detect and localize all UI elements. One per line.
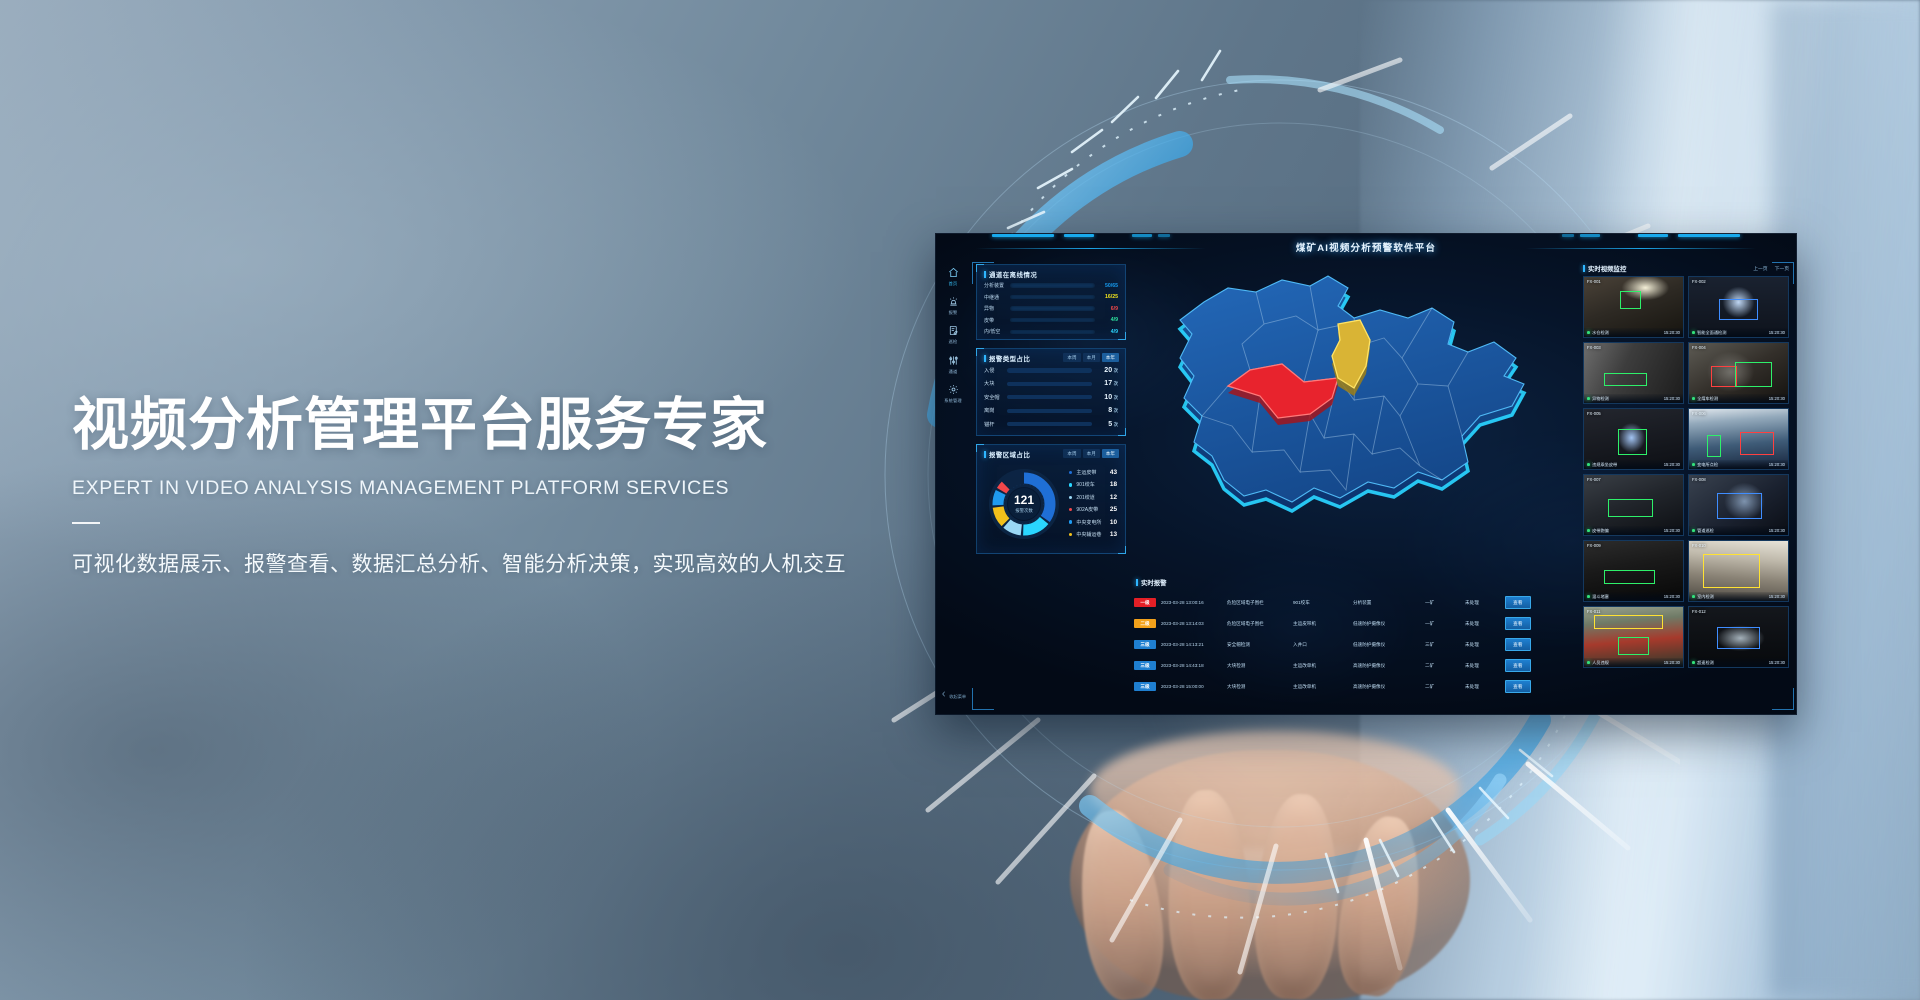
video-camera-id: FX-010: [1692, 543, 1706, 548]
video-footer: 智能全面通检测 15:20:30: [1689, 328, 1788, 337]
table-row[interactable]: 三级 2023-03-28 14:13:21 安全帽检测 入井口 低速防护摄像仪…: [1134, 634, 1536, 655]
video-camera-id: FX-011: [1587, 609, 1600, 614]
sidebar-item-alarm[interactable]: 报警: [936, 289, 970, 318]
legend-value: 43: [1110, 469, 1117, 476]
video-monitor-header: 实时视频监控 上一页 下一页: [1583, 264, 1789, 273]
alarm-type-title: 报警类型占比: [984, 354, 1030, 363]
channel-row-label: 皮带: [984, 317, 1010, 324]
video-time: 15:20:30: [1769, 528, 1785, 533]
alarm-type: 大块检测: [1227, 684, 1293, 690]
donut-total: 121: [1014, 494, 1034, 506]
video-label: 变电所点检: [1697, 462, 1769, 468]
status-dot: [1692, 529, 1695, 532]
channel-row-track: [1010, 306, 1095, 310]
channel-row-track: [1010, 318, 1095, 322]
legend-label: 901绞车: [1076, 481, 1110, 488]
alarm-type-value: 5次: [1092, 421, 1118, 428]
video-time: 15:20:30: [1664, 462, 1680, 467]
alarm-icon: [936, 296, 970, 309]
legend-dot: [1069, 520, 1072, 523]
alarm-level-badge: 三级: [1134, 640, 1156, 649]
alarm-type-panel: 报警类型占比 本周 本月 本年 入侵 20次 大块 17次 安全帽 10次: [976, 348, 1126, 436]
alarm-level-badge: 三级: [1134, 661, 1156, 670]
video-time: 15:20:30: [1769, 396, 1785, 401]
legend-dot: [1069, 496, 1072, 499]
video-card[interactable]: FX-012 超速检测 15:20:30: [1688, 606, 1789, 668]
channel-row: 内/低空 4/9: [984, 328, 1118, 335]
legend-label: 902A皮带: [1076, 506, 1110, 513]
video-card[interactable]: FX-006 变电所点检 15:20:30: [1688, 408, 1789, 470]
alarm-grade: 三矿: [1425, 642, 1465, 648]
dashboard-header: 煤矿AI视频分析预警软件平台: [936, 234, 1796, 264]
channel-row-label: 内/低空: [984, 328, 1010, 335]
alarm-type-track: [1007, 395, 1092, 399]
video-footer: 溜斗堵塞 15:20:30: [1584, 592, 1683, 601]
inspection-icon: [936, 325, 970, 338]
tab-week[interactable]: 本周: [1063, 353, 1080, 362]
video-camera-id: FX-009: [1587, 543, 1601, 548]
video-footer: 管道巡检 15:20:30: [1689, 526, 1788, 535]
channel-row-track: [1010, 330, 1095, 334]
video-label: 室内检测: [1697, 594, 1769, 600]
alarm-view-button[interactable]: 查看: [1505, 638, 1531, 651]
status-dot: [1692, 397, 1695, 400]
dashboard-screen: 煤矿AI视频分析预警软件平台 首页 报警 巡检 通道: [936, 234, 1796, 714]
video-time: 15:20:30: [1664, 528, 1680, 533]
gear-icon: [936, 384, 970, 397]
legend-value: 13: [1110, 531, 1117, 538]
sidebar-item-channel[interactable]: 通道: [936, 348, 970, 377]
frame-corner-tl: [972, 262, 994, 284]
alarm-area-title: 报警区域占比: [984, 450, 1030, 459]
channel-row: 分析装置 50/65: [984, 282, 1118, 289]
alarm-status: 未处理: [1465, 642, 1505, 648]
status-dot: [1587, 595, 1590, 598]
legend-dot: [1069, 483, 1072, 486]
alarm-type-label: 大块: [984, 380, 1007, 387]
divider-rule: [72, 522, 100, 524]
channel-row-value: 16/25: [1095, 294, 1118, 300]
legend-item: 201绞道 12: [1069, 494, 1117, 501]
alarm-type-row: 锚杆 5次: [984, 421, 1118, 428]
alarm-area-legend: 主运皮带 43 901绞车 18 201绞道 12 902A皮带 25 中央变电…: [1069, 469, 1117, 538]
status-dot: [1587, 397, 1590, 400]
alarm-device: 低速防护摄像仪: [1353, 642, 1425, 648]
video-card[interactable]: FX-010 室内检测 15:20:30: [1688, 540, 1789, 602]
alarm-view-button[interactable]: 查看: [1505, 596, 1531, 609]
video-label: 管道巡检: [1697, 528, 1769, 534]
hero-copy: 视频分析管理平台服务专家 EXPERT IN VIDEO ANALYSIS MA…: [72, 392, 952, 578]
video-time: 15:20:30: [1664, 396, 1680, 401]
channel-row: 皮带 4/9: [984, 317, 1118, 324]
detection-box: [1620, 291, 1642, 309]
legend-item: 中央辅运巷 13: [1069, 531, 1117, 538]
tab-month[interactable]: 本月: [1083, 353, 1100, 362]
sidebar-item-alarm-label: 报警: [936, 311, 970, 315]
alarm-view-button[interactable]: 查看: [1505, 617, 1531, 630]
video-grid: FX-001 水仓检测 15:20:30 FX-002 智能全面通检测 15:2…: [1583, 276, 1789, 706]
alarm-device: 高速防护摄像仪: [1353, 663, 1425, 669]
alarm-device: 高速防护摄像仪: [1353, 684, 1425, 690]
status-dot: [1587, 661, 1590, 664]
alarm-device: 低速防护摄像仪: [1353, 621, 1425, 627]
video-footer: 变电所点检 15:20:30: [1689, 460, 1788, 469]
tab-year[interactable]: 本年: [1102, 449, 1119, 458]
detection-box: [1717, 493, 1763, 519]
channel-row-value: 6/9: [1095, 306, 1118, 312]
channel-row-value: 4/9: [1095, 317, 1118, 323]
channel-row: 异物 6/9: [984, 305, 1118, 312]
alarm-area-donut: 121 报警次数: [987, 467, 1061, 541]
alarm-type-track: [1007, 409, 1092, 413]
video-time: 15:20:30: [1664, 594, 1680, 599]
alarm-type-rows: 入侵 20次 大块 17次 安全帽 10次 离岗 8次 锚杆: [984, 367, 1118, 428]
table-row[interactable]: 三级 2023-03-28 14:43:18 大块检测 主运改单机 高速防护摄像…: [1134, 655, 1536, 676]
alarm-time: 2023-03-28 15:00:00: [1161, 684, 1227, 689]
frame-corner-bl: [972, 688, 994, 710]
video-monitor-title: 实时视频监控: [1583, 264, 1626, 273]
alarm-device: 分析装置: [1353, 600, 1425, 606]
alarm-type-track: [1007, 382, 1092, 386]
video-camera-id: FX-002: [1692, 279, 1706, 284]
legend-dot: [1069, 533, 1072, 536]
sidebar-item-system-label: 系统管理: [936, 399, 970, 403]
detection-box: [1707, 435, 1721, 457]
alarm-level-badge: 一级: [1134, 598, 1156, 607]
tab-month[interactable]: 本月: [1083, 449, 1100, 458]
channel-row-label: 异物: [984, 305, 1010, 312]
legend-dot: [1069, 508, 1072, 511]
alarm-area: 主运改单机: [1293, 684, 1353, 690]
frame-corner-tr: [1772, 262, 1794, 284]
detection-box: [1711, 366, 1737, 388]
video-time: 15:20:30: [1769, 330, 1785, 335]
video-footer: 异物检测 15:20:30: [1584, 394, 1683, 403]
alarm-type-row: 大块 17次: [984, 380, 1118, 387]
legend-value: 25: [1110, 506, 1117, 513]
detection-box: [1618, 429, 1648, 454]
map-svg[interactable]: [1132, 266, 1538, 566]
video-footer: 违规乘坐皮带 15:20:30: [1584, 460, 1683, 469]
detection-box: [1740, 432, 1774, 455]
alarm-time: 2023-03-28 13:14:03: [1161, 621, 1227, 626]
video-camera-id: FX-006: [1692, 411, 1706, 416]
collapse-icon: [940, 694, 949, 700]
sidebar: 首页 报警 巡检 通道 系统管理: [936, 260, 970, 714]
alarm-grade: 二矿: [1425, 684, 1465, 690]
alarm-grade: 一矿: [1425, 621, 1465, 627]
realtime-alarm-panel: 实时报警 一级 2023-03-28 13:00:16 危险区域电子围栏 901…: [1132, 576, 1538, 708]
video-label: 人员违规: [1592, 660, 1664, 666]
alarm-status: 未处理: [1465, 600, 1505, 606]
alarm-type-track: [1007, 422, 1092, 426]
video-monitor-panel: 实时视频监控 上一页 下一页 FX-001 水仓检测 15:20:30: [1580, 262, 1792, 708]
sidebar-item-home[interactable]: 首页: [936, 260, 970, 289]
detection-box: [1618, 637, 1650, 655]
alarm-type-value: 10次: [1092, 394, 1118, 401]
video-label: 智能全面通检测: [1697, 330, 1769, 336]
video-label: 水仓检测: [1592, 330, 1664, 336]
status-dot: [1692, 463, 1695, 466]
frame-corner-br: [1772, 688, 1794, 710]
sidebar-item-channel-label: 通道: [936, 370, 970, 374]
realtime-alarm-title: 实时报警: [1136, 578, 1167, 587]
legend-label: 中央变电所: [1076, 519, 1110, 526]
video-label: 超速检测: [1697, 660, 1769, 666]
page-description: 可视化数据展示、报警查看、数据汇总分析、智能分析决策，实现高效的人机交互: [72, 548, 952, 578]
video-card[interactable]: FX-001 水仓检测 15:20:30: [1583, 276, 1684, 338]
video-card[interactable]: FX-005 违规乘坐皮带 15:20:30: [1583, 408, 1684, 470]
page-title: 视频分析管理平台服务专家: [72, 392, 952, 459]
status-dot: [1692, 331, 1695, 334]
video-card[interactable]: FX-003 异物检测 15:20:30: [1583, 342, 1684, 404]
video-card[interactable]: FX-008 管道巡检 15:20:30: [1688, 474, 1789, 536]
realtime-alarm-rows: 一级 2023-03-28 13:00:16 危险区域电子围栏 901绞车 分析…: [1134, 592, 1536, 697]
alarm-area: 主运皮带机: [1293, 621, 1353, 627]
detection-box: [1735, 362, 1773, 387]
status-dot: [1692, 595, 1695, 598]
page-subtitle: EXPERT IN VIDEO ANALYSIS MANAGEMENT PLAT…: [72, 477, 952, 500]
alarm-type-tabs: 本周 本月 本年: [1063, 353, 1119, 362]
channel-status-rows: 分析装置 50/65 中继通 16/25 异物 6/9 皮带 4/9 内/低空: [984, 282, 1118, 335]
video-time: 15:20:30: [1664, 660, 1680, 665]
alarm-status: 未处理: [1465, 684, 1505, 690]
video-label: 异物检测: [1592, 396, 1664, 402]
alarm-type-row: 安全帽 10次: [984, 394, 1118, 401]
video-card[interactable]: FX-002 智能全面通检测 15:20:30: [1688, 276, 1789, 338]
alarm-area: 入井口: [1293, 642, 1353, 648]
video-card[interactable]: FX-011 人员违规 15:20:30: [1583, 606, 1684, 668]
prev-page-button[interactable]: 上一页: [1753, 265, 1767, 272]
video-time: 15:20:30: [1769, 660, 1785, 665]
alarm-type-row: 入侵 20次: [984, 367, 1118, 374]
alarm-type-row: 离岗 8次: [984, 407, 1118, 414]
legend-label: 201绞道: [1076, 494, 1110, 501]
alarm-time: 2023-03-28 14:43:18: [1161, 663, 1227, 668]
province-map[interactable]: [1132, 262, 1538, 574]
channel-row-track: [1010, 283, 1095, 287]
video-camera-id: FX-008: [1692, 477, 1706, 482]
alarm-type-label: 入侵: [984, 367, 1007, 374]
detection-box: [1719, 299, 1759, 321]
video-time: 15:20:30: [1769, 462, 1785, 467]
status-dot: [1692, 661, 1695, 664]
sidebar-item-inspection-label: 巡检: [936, 340, 970, 344]
home-icon: [936, 267, 970, 280]
video-footer: 皮带跑偏 15:20:30: [1584, 526, 1683, 535]
alarm-type-label: 锚杆: [984, 421, 1007, 428]
video-time: 15:20:30: [1664, 330, 1680, 335]
alarm-level-badge: 三级: [1134, 682, 1156, 691]
video-label: 违规乘坐皮带: [1592, 462, 1664, 468]
detection-box: [1604, 373, 1648, 386]
alarm-type-value: 20次: [1092, 367, 1118, 374]
legend-item: 902A皮带 25: [1069, 506, 1117, 513]
video-card[interactable]: FX-004 全煤车检测 15:20:30: [1688, 342, 1789, 404]
video-camera-id: FX-003: [1587, 345, 1601, 350]
video-camera-id: FX-005: [1587, 411, 1601, 416]
sidebar-item-system[interactable]: 系统管理: [936, 377, 970, 406]
legend-item: 中央变电所 10: [1069, 519, 1117, 526]
video-footer: 水仓检测 15:20:30: [1584, 328, 1683, 337]
video-card[interactable]: FX-007 皮带跑偏 15:20:30: [1583, 474, 1684, 536]
alarm-type-label: 离岗: [984, 407, 1007, 414]
sidebar-collapse-label: 收起菜单: [949, 694, 966, 699]
table-row[interactable]: 二级 2023-03-28 13:14:03 危险区域电子围栏 主运皮带机 低速…: [1134, 613, 1536, 634]
tab-year[interactable]: 本年: [1102, 353, 1119, 362]
channel-row-label: 中继通: [984, 294, 1010, 301]
alarm-type-track: [1007, 368, 1092, 372]
video-camera-id: FX-012: [1692, 609, 1706, 614]
legend-value: 10: [1110, 519, 1117, 526]
channel-row: 中继通 16/25: [984, 294, 1118, 301]
video-camera-id: FX-001: [1587, 279, 1601, 284]
sidebar-item-inspection[interactable]: 巡检: [936, 318, 970, 347]
video-camera-id: FX-007: [1587, 477, 1601, 482]
alarm-type: 危险区域电子围栏: [1227, 600, 1293, 606]
channel-row-track: [1010, 295, 1095, 299]
alarm-grade: 一矿: [1425, 600, 1465, 606]
video-label: 溜斗堵塞: [1592, 594, 1664, 600]
video-time: 15:20:30: [1769, 594, 1785, 599]
sidebar-collapse[interactable]: 收起菜单: [936, 690, 970, 700]
video-camera-id: FX-004: [1692, 345, 1706, 350]
status-dot: [1587, 463, 1590, 466]
detection-box: [1594, 615, 1663, 628]
dashboard-monitor: 煤矿AI视频分析预警软件平台 首页 报警 巡检 通道: [936, 234, 1796, 714]
status-dot: [1587, 529, 1590, 532]
table-row[interactable]: 一级 2023-03-28 13:00:16 危险区域电子围栏 901绞车 分析…: [1134, 592, 1536, 613]
legend-item: 901绞车 18: [1069, 481, 1117, 488]
alarm-view-button[interactable]: 查看: [1505, 680, 1531, 693]
legend-label: 主运皮带: [1076, 469, 1110, 476]
alarm-area-panel: 报警区域占比 本周 本月 本年 121 报警次数: [976, 444, 1126, 554]
alarm-type-value: 8次: [1092, 407, 1118, 414]
alarm-view-button[interactable]: 查看: [1505, 659, 1531, 672]
legend-dot: [1069, 471, 1072, 474]
tab-week[interactable]: 本周: [1063, 449, 1080, 458]
alarm-status: 未处理: [1465, 621, 1505, 627]
detection-box: [1608, 499, 1654, 517]
donut-total-label: 报警次数: [1015, 508, 1033, 514]
video-label: 全煤车检测: [1697, 396, 1769, 402]
video-footer: 超速检测 15:20:30: [1689, 658, 1788, 667]
alarm-type: 大块检测: [1227, 663, 1293, 669]
video-footer: 室内检测 15:20:30: [1689, 592, 1788, 601]
donut-center: 121 报警次数: [987, 467, 1061, 541]
detection-box: [1717, 627, 1761, 649]
channel-icon: [936, 355, 970, 368]
alarm-area-tabs: 本周 本月 本年: [1063, 449, 1119, 458]
alarm-type-value: 17次: [1092, 380, 1118, 387]
detection-box: [1604, 570, 1655, 584]
video-card[interactable]: FX-009 溜斗堵塞 15:20:30: [1583, 540, 1684, 602]
channel-row-value: 4/9: [1095, 329, 1118, 335]
alarm-type-label: 安全帽: [984, 394, 1007, 401]
alarm-area: 主运改单机: [1293, 663, 1353, 669]
video-label: 皮带跑偏: [1592, 528, 1664, 534]
detection-box: [1703, 554, 1760, 588]
video-footer: 全煤车检测 15:20:30: [1689, 394, 1788, 403]
video-footer: 人员违规 15:20:30: [1584, 658, 1683, 667]
alarm-status: 未处理: [1465, 663, 1505, 669]
alarm-time: 2023-03-28 13:00:16: [1161, 600, 1227, 605]
channel-row-value: 50/65: [1095, 283, 1118, 289]
channel-status-panel: 通道在离线情况 分析装置 50/65 中继通 16/25 异物 6/9 皮带 4…: [976, 264, 1126, 340]
legend-item: 主运皮带 43: [1069, 469, 1117, 476]
app-title: 煤矿AI视频分析预警软件平台: [936, 240, 1796, 254]
legend-value: 18: [1110, 481, 1117, 488]
legend-value: 12: [1110, 494, 1117, 501]
alarm-type: 安全帽检测: [1227, 642, 1293, 648]
alarm-level-badge: 二级: [1134, 619, 1156, 628]
alarm-grade: 二矿: [1425, 663, 1465, 669]
alarm-type: 危险区域电子围栏: [1227, 621, 1293, 627]
table-row[interactable]: 三级 2023-03-28 15:00:00 大块检测 主运改单机 高速防护摄像…: [1134, 676, 1536, 697]
alarm-area: 901绞车: [1293, 600, 1353, 606]
sidebar-item-home-label: 首页: [936, 282, 970, 286]
alarm-time: 2023-03-28 14:13:21: [1161, 642, 1227, 647]
status-dot: [1587, 331, 1590, 334]
legend-label: 中央辅运巷: [1076, 531, 1110, 538]
